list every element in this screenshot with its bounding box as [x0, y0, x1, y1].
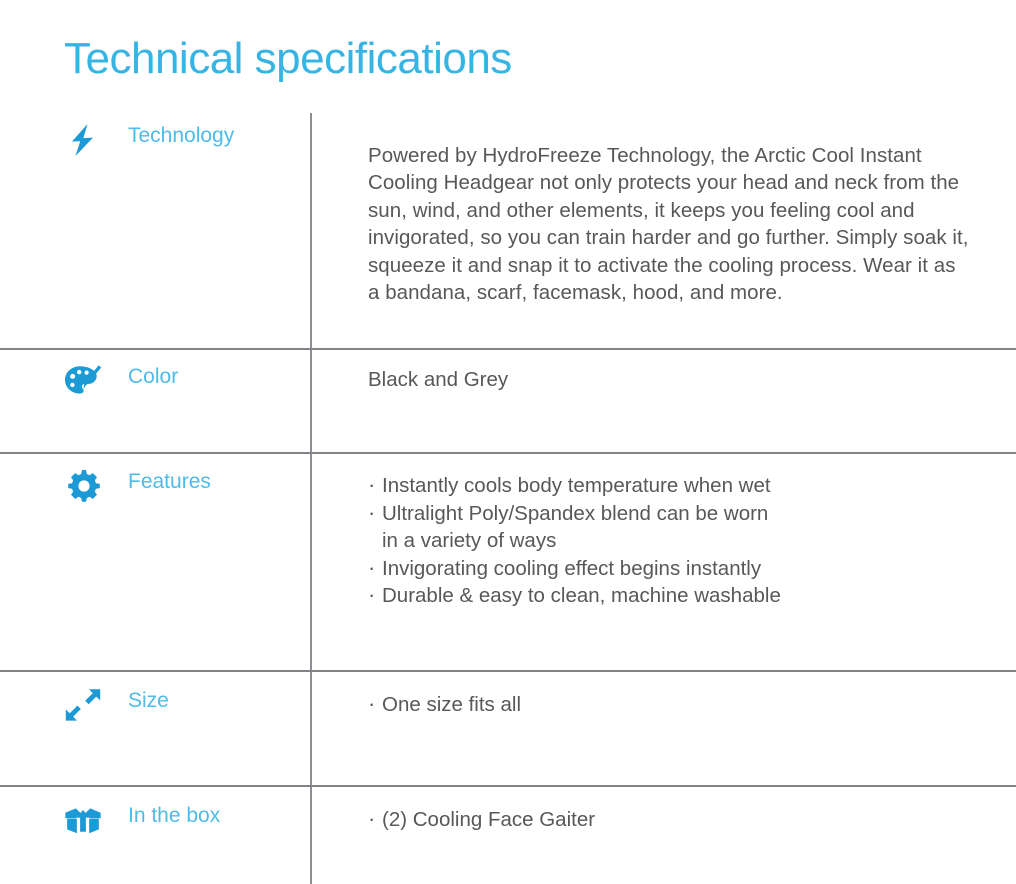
page-title: Technical specifications — [64, 31, 512, 87]
row-label: Technology — [128, 123, 234, 149]
row-label-cell: In the box — [0, 787, 310, 837]
row-label-cell: Features — [0, 454, 310, 503]
row-value-cell: Powered by HydroFreeze Technology, the A… — [310, 113, 1016, 327]
list-item: (2) Cooling Face Gaiter — [368, 806, 971, 834]
lightning-bolt-icon — [64, 123, 102, 157]
features-list: Instantly cools body temperature when we… — [368, 472, 971, 610]
table-row: Color Black and Grey — [0, 348, 1016, 452]
gear-icon — [64, 469, 102, 503]
resize-arrows-icon — [64, 688, 102, 722]
table-row: Technology Powered by HydroFreeze Techno… — [0, 113, 1016, 348]
paint-palette-icon — [64, 364, 102, 398]
row-value-cell: Instantly cools body temperature when we… — [310, 454, 1016, 610]
list-item: Ultralight Poly/Spandex blend can be wor… — [368, 500, 971, 555]
technical-specifications-page: Technical specifications Technology Powe… — [0, 0, 1016, 884]
color-value: Black and Grey — [368, 366, 971, 393]
list-item: One size fits all — [368, 691, 971, 719]
row-label: In the box — [128, 803, 220, 829]
row-value-cell: One size fits all — [310, 672, 1016, 719]
list-item: Invigorating cooling effect begins insta… — [368, 555, 971, 583]
size-list: One size fits all — [368, 691, 971, 719]
table-row: Size One size fits all — [0, 670, 1016, 785]
specifications-table: Technology Powered by HydroFreeze Techno… — [0, 113, 1016, 884]
row-label: Features — [128, 469, 211, 495]
row-value-cell: Black and Grey — [310, 350, 1016, 393]
row-label-cell: Technology — [0, 113, 310, 157]
list-item: Instantly cools body temperature when we… — [368, 472, 971, 500]
technology-description: Powered by HydroFreeze Technology, the A… — [368, 142, 971, 307]
row-label: Color — [128, 364, 178, 390]
row-value-cell: (2) Cooling Face Gaiter — [310, 787, 1016, 834]
row-label-cell: Color — [0, 350, 310, 398]
table-row: Features Instantly cools body temperatur… — [0, 452, 1016, 670]
in-the-box-list: (2) Cooling Face Gaiter — [368, 806, 971, 834]
open-box-icon — [64, 803, 102, 837]
row-label: Size — [128, 688, 169, 714]
table-row: In the box (2) Cooling Face Gaiter — [0, 785, 1016, 884]
row-label-cell: Size — [0, 672, 310, 722]
list-item: Durable & easy to clean, machine washabl… — [368, 582, 971, 610]
